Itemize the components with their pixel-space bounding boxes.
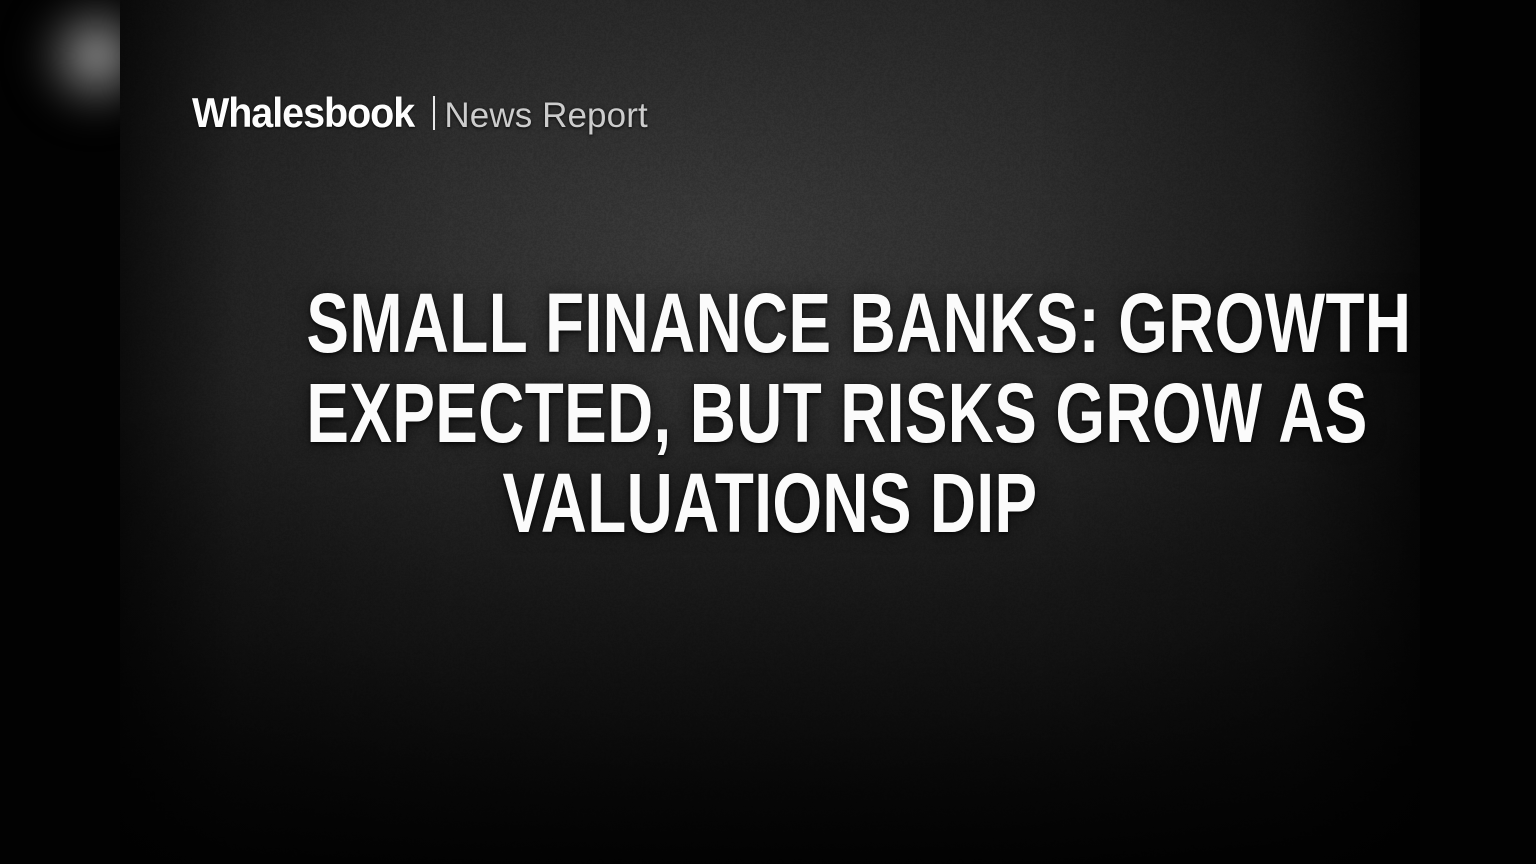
- brand-subtitle: News Report: [444, 98, 647, 133]
- brand-name: Whalesbook: [192, 92, 414, 134]
- headline-line-3: VALUATIONS DIP: [306, 458, 1233, 548]
- panel-content: Whalesbook News Report SMALL FINANCE BAN…: [120, 0, 1420, 864]
- headline-line-2: EXPECTED, BUT RISKS GROW AS: [306, 368, 1233, 458]
- brand-lockup: Whalesbook News Report: [192, 92, 648, 134]
- brand-separator-icon: [433, 96, 435, 130]
- headline: SMALL FINANCE BANKS: GROWTH EXPECTED, BU…: [120, 278, 1420, 548]
- headline-line-1: SMALL FINANCE BANKS: GROWTH: [306, 278, 1233, 368]
- content-panel: Whalesbook News Report SMALL FINANCE BAN…: [120, 0, 1420, 864]
- news-card-canvas: Whalesbook News Report SMALL FINANCE BAN…: [0, 0, 1536, 864]
